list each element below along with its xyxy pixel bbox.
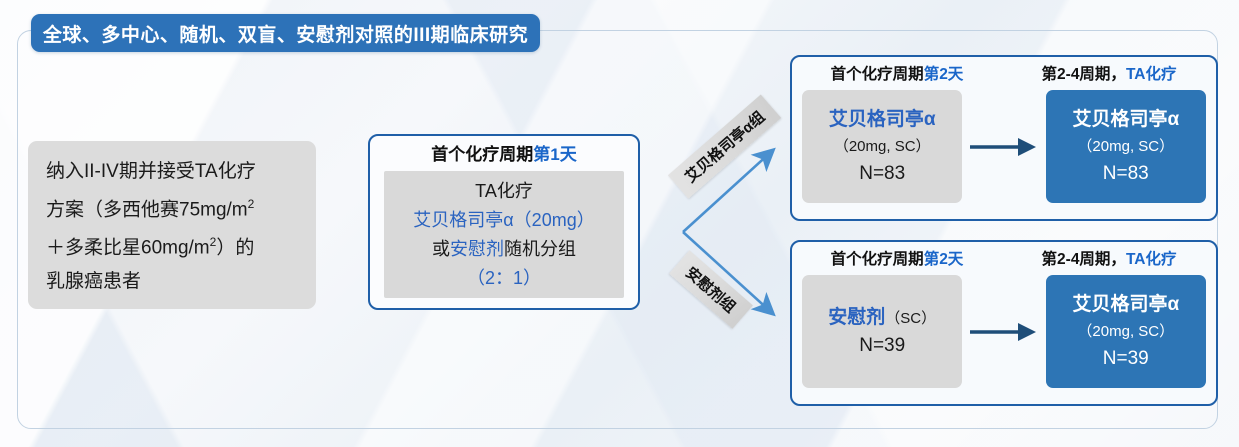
- arm-header-cycles-prefix: 第2-4周期，: [1042, 251, 1126, 268]
- randomization-line-2: 艾贝格司亭α（20mg）: [413, 206, 594, 235]
- arm-body: 安慰剂（SC） N=39 艾贝格司亭α （20mg, SC） N=39: [792, 271, 1216, 388]
- arm-cell-initial-count: N=39: [859, 332, 905, 360]
- arm-cell-initial-drug: 艾贝格司亭α: [829, 106, 936, 134]
- randomization-line-3-prefix: 或: [432, 239, 450, 259]
- arm-header-day: 首个化疗周期第2天: [792, 249, 1002, 271]
- randomization-line-3: 或安慰剂随机分组: [432, 235, 576, 264]
- arm-cell-initial-dose: （20mg, SC）: [834, 134, 931, 160]
- randomization-line-3-suffix: 随机分组: [504, 239, 576, 259]
- arm-header-cycles: 第2-4周期，TA化疗: [1002, 249, 1216, 271]
- arm-cell-initial: 艾贝格司亭α （20mg, SC） N=83: [802, 90, 962, 203]
- arm-transition-arrow: [962, 275, 1045, 388]
- randomization-line-1: TA化疗: [475, 177, 533, 206]
- arm-header-day-prefix: 首个化疗周期: [831, 251, 924, 268]
- arm-header-day-accent: 第2天: [924, 66, 964, 83]
- study-title-banner: 全球、多中心、随机、双盲、安慰剂对照的III期临床研究: [31, 14, 540, 52]
- arm-cell-continuation-drug: 艾贝格司亭α: [1072, 106, 1179, 134]
- randomization-panel: TA化疗 艾贝格司亭α（20mg） 或安慰剂随机分组 （2：1）: [384, 171, 624, 298]
- randomization-header-accent: 第1天: [533, 145, 576, 164]
- arm-cell-initial-drug: 安慰剂: [828, 307, 885, 328]
- arm-headers: 首个化疗周期第2天 第2-4周期，TA化疗: [792, 242, 1216, 271]
- arm-cell-initial-count: N=83: [859, 160, 905, 188]
- randomization-ratio: （2：1）: [467, 264, 541, 293]
- arm-cell-initial-dose: （SC）: [885, 310, 936, 327]
- arm-cell-continuation-dose: （20mg, SC）: [1077, 319, 1174, 345]
- treatment-arm-panel-placebo: 首个化疗周期第2天 第2-4周期，TA化疗 安慰剂（SC） N=39 艾贝格司亭…: [790, 240, 1218, 406]
- randomization-header: 首个化疗周期第1天: [378, 142, 630, 167]
- arm-cell-continuation-count: N=83: [1103, 160, 1149, 188]
- inclusion-criteria-box: 纳入II-IV期并接受TA化疗 方案（多西他赛75mg/m2 ＋多柔比星60mg…: [28, 141, 316, 309]
- arm-cell-continuation: 艾贝格司亭α （20mg, SC） N=83: [1046, 90, 1206, 203]
- criteria-line-2-text: 方案（多西他赛75mg/m: [46, 199, 248, 220]
- criteria-line-2: 方案（多西他赛75mg/m2: [46, 188, 300, 226]
- randomization-line-3-placebo: 安慰剂: [450, 239, 504, 259]
- criteria-line-4: 乳腺癌患者: [46, 265, 300, 298]
- arm-cell-continuation-count: N=39: [1103, 345, 1149, 373]
- arm-header-cycles-accent: TA化疗: [1126, 251, 1177, 268]
- arm-header-day-accent: 第2天: [924, 251, 964, 268]
- arm-cell-continuation-dose: （20mg, SC）: [1077, 134, 1174, 160]
- criteria-line-2-sup: 2: [248, 197, 255, 211]
- randomization-box: 首个化疗周期第1天 TA化疗 艾贝格司亭α（20mg） 或安慰剂随机分组 （2：…: [368, 134, 640, 310]
- arm-header-cycles: 第2-4周期，TA化疗: [1002, 64, 1216, 86]
- criteria-line-3-tail: ）的: [216, 238, 254, 259]
- arm-cell-continuation-drug: 艾贝格司亭α: [1072, 291, 1179, 319]
- arm-cell-initial: 安慰剂（SC） N=39: [802, 275, 962, 388]
- criteria-line-3-text: ＋多柔比星60mg/m: [46, 238, 210, 259]
- arm-header-day-prefix: 首个化疗周期: [831, 66, 924, 83]
- criteria-line-1: 纳入II-IV期并接受TA化疗: [46, 155, 300, 188]
- arm-cell-continuation: 艾贝格司亭α （20mg, SC） N=39: [1046, 275, 1206, 388]
- arm-body: 艾贝格司亭α （20mg, SC） N=83 艾贝格司亭α （20mg, SC）…: [792, 86, 1216, 203]
- arm-transition-arrow: [962, 90, 1045, 203]
- arm-cell-initial-row: 安慰剂（SC）: [828, 304, 936, 332]
- criteria-line-3: ＋多柔比星60mg/m2）的: [46, 226, 300, 264]
- treatment-arm-panel-drug: 首个化疗周期第2天 第2-4周期，TA化疗 艾贝格司亭α （20mg, SC） …: [790, 55, 1218, 221]
- study-title-text: 全球、多中心、随机、双盲、安慰剂对照的III期临床研究: [43, 20, 528, 47]
- randomization-header-prefix: 首个化疗周期: [431, 145, 533, 164]
- arm-header-cycles-accent: TA化疗: [1126, 66, 1177, 83]
- arm-header-cycles-prefix: 第2-4周期，: [1042, 66, 1126, 83]
- arm-header-day: 首个化疗周期第2天: [792, 64, 1002, 86]
- arm-headers: 首个化疗周期第2天 第2-4周期，TA化疗: [792, 57, 1216, 86]
